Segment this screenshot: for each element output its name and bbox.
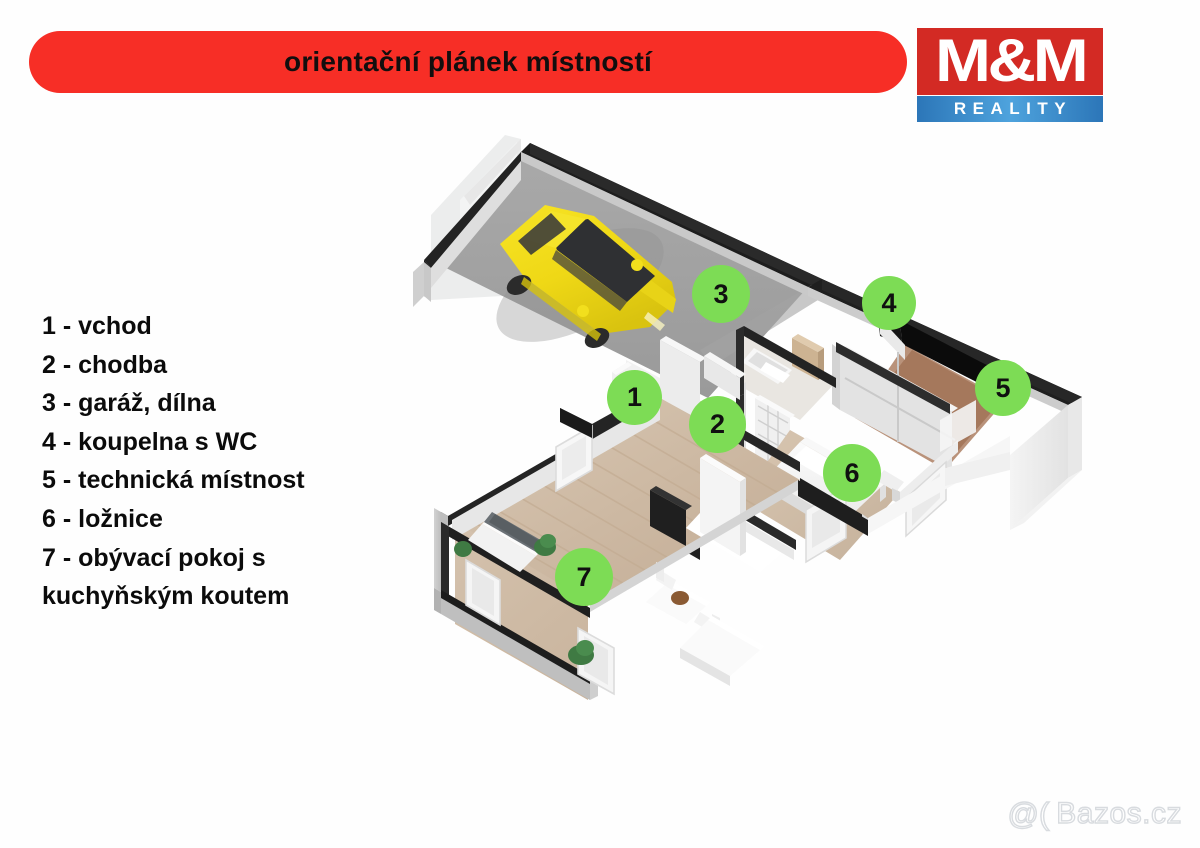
room-marker-6[interactable]: 6 — [823, 444, 881, 502]
room-marker-4[interactable]: 4 — [862, 276, 916, 330]
logo-red-block: M&M — [917, 28, 1103, 95]
room-marker-label: 1 — [627, 384, 642, 411]
room-marker-label: 4 — [881, 290, 896, 317]
bazos-watermark: @( Bazos.cz — [1007, 796, 1182, 832]
logo-blue-bar: REALITY — [917, 96, 1103, 122]
room-marker-label: 7 — [576, 564, 591, 591]
room-marker-1[interactable]: 1 — [607, 370, 662, 425]
legend-item-3: 3 - garáž, dílna — [42, 384, 372, 423]
logo-reality-text: REALITY — [948, 99, 1072, 119]
watermark-at-icon: @( — [1007, 796, 1049, 832]
legend-item-7: 7 - obývací pokoj s — [42, 539, 372, 578]
room-marker-label: 3 — [713, 281, 728, 308]
room-marker-5[interactable]: 5 — [975, 360, 1031, 416]
legend-item-2: 2 - chodba — [42, 346, 372, 385]
room-marker-label: 6 — [844, 460, 859, 487]
legend-item-7-cont: kuchyňským koutem — [42, 577, 372, 616]
room-marker-label: 2 — [710, 411, 725, 438]
room-legend: 1 - vchod 2 - chodba 3 - garáž, dílna 4 … — [42, 307, 372, 616]
room-marker-7[interactable]: 7 — [555, 548, 613, 606]
floorplan-page: orientační plánek místností M&M REALITY … — [0, 0, 1200, 848]
legend-item-6: 6 - ložnice — [42, 500, 372, 539]
room-marker-label: 5 — [995, 375, 1010, 402]
logo-mm-text: M&M — [935, 31, 1085, 91]
legend-item-5: 5 - technická místnost — [42, 461, 372, 500]
page-title: orientační plánek místností — [284, 46, 652, 78]
mm-reality-logo[interactable]: M&M REALITY — [917, 28, 1103, 122]
title-banner: orientační plánek místností — [29, 31, 907, 93]
watermark-label: Bazos.cz — [1056, 797, 1182, 831]
room-marker-3[interactable]: 3 — [692, 265, 750, 323]
room-marker-2[interactable]: 2 — [689, 396, 746, 453]
legend-item-1: 1 - vchod — [42, 307, 372, 346]
legend-item-4: 4 - koupelna s WC — [42, 423, 372, 462]
